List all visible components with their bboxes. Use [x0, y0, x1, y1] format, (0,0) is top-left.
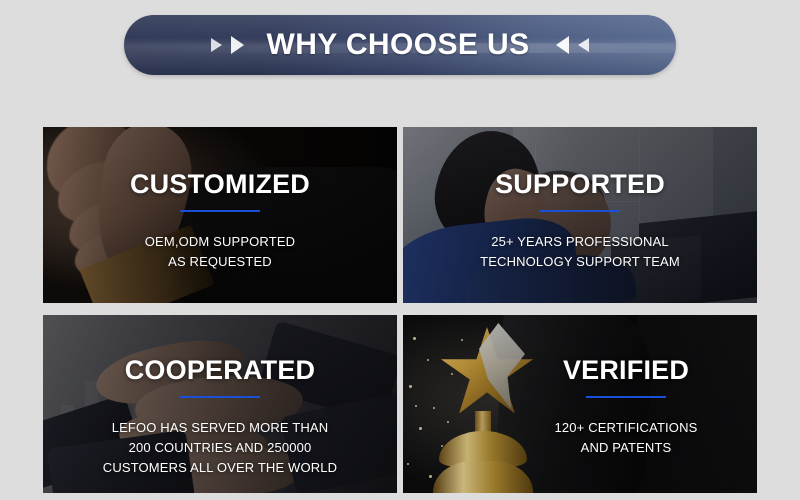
banner-container: WHY CHOOSE US — [0, 14, 800, 76]
title-divider — [180, 210, 260, 212]
card-subtitle: 120+ CERTIFICATIONS AND PATENTS — [555, 418, 698, 458]
title-divider — [180, 396, 260, 398]
feature-card-supported[interactable]: SUPPORTED 25+ YEARS PROFESSIONAL TECHNOL… — [403, 127, 757, 303]
right-triangle-small-icon — [211, 38, 222, 52]
double-left-triangle-icon — [556, 36, 589, 54]
title-divider — [540, 210, 620, 212]
card-title: COOPERATED — [125, 357, 316, 384]
why-choose-us-section: WHY CHOOSE US — [0, 0, 800, 500]
card-title: SUPPORTED — [495, 171, 665, 198]
card-subtitle: 25+ YEARS PROFESSIONAL TECHNOLOGY SUPPOR… — [480, 232, 680, 272]
section-heading-banner: WHY CHOOSE US — [124, 15, 676, 75]
feature-card-cooperated[interactable]: COOPERATED LEFOO HAS SERVED MORE THAN 20… — [43, 315, 397, 493]
left-triangle-small-icon — [578, 38, 589, 52]
card-title: VERIFIED — [563, 357, 689, 384]
feature-card-customized[interactable]: CUSTOMIZED OEM,ODM SUPPORTED AS REQUESTE… — [43, 127, 397, 303]
page-title: WHY CHOOSE US — [266, 28, 529, 62]
card-title: CUSTOMIZED — [130, 171, 310, 198]
feature-card-verified[interactable]: VERIFIED 120+ CERTIFICATIONS AND PATENTS — [403, 315, 757, 493]
right-triangle-large-icon — [231, 36, 244, 54]
title-divider — [586, 396, 666, 398]
double-right-triangle-icon — [211, 36, 244, 54]
card-subtitle: LEFOO HAS SERVED MORE THAN 200 COUNTRIES… — [103, 418, 337, 478]
left-triangle-large-icon — [556, 36, 569, 54]
feature-card-grid: CUSTOMIZED OEM,ODM SUPPORTED AS REQUESTE… — [43, 127, 757, 493]
card-subtitle: OEM,ODM SUPPORTED AS REQUESTED — [145, 232, 295, 272]
